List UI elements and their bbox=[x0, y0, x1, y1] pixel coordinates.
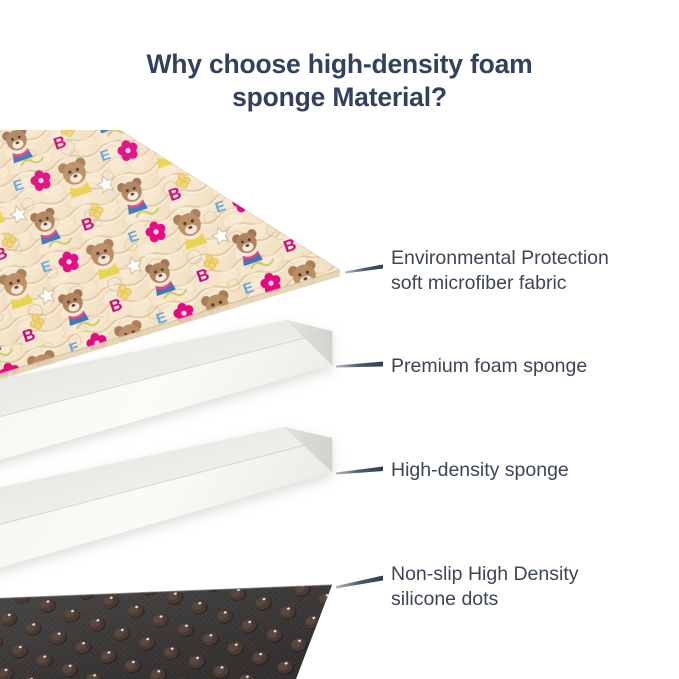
callout-density-line-1: High-density sponge bbox=[391, 458, 569, 483]
callout-fabric-line-2: soft microfiber fabric bbox=[391, 271, 609, 296]
callout-nonslip-line-1: Non-slip High Density bbox=[391, 562, 579, 587]
callout-label-non-slip: Non-slip High Density silicone dots bbox=[391, 562, 579, 612]
layer-high-density-foam bbox=[0, 427, 332, 585]
callout-fabric-line-1: Environmental Protection bbox=[391, 246, 609, 271]
leader-line-silicone bbox=[336, 576, 383, 589]
leader-lines bbox=[336, 265, 383, 589]
leader-line-high-density bbox=[336, 467, 383, 475]
callout-premium-line-1: Premium foam sponge bbox=[391, 354, 587, 379]
callout-label-high-density: High-density sponge bbox=[391, 458, 569, 483]
leader-line-fabric bbox=[345, 265, 383, 274]
callout-nonslip-line-2: silicone dots bbox=[391, 587, 579, 612]
leader-line-premium bbox=[336, 362, 383, 368]
layer-silicone-base bbox=[0, 585, 332, 679]
callout-label-fabric: Environmental Protection soft microfiber… bbox=[391, 246, 609, 296]
callout-label-premium-foam: Premium foam sponge bbox=[391, 354, 587, 379]
product-infographic: Why choose high-density foam sponge Mate… bbox=[0, 0, 679, 679]
